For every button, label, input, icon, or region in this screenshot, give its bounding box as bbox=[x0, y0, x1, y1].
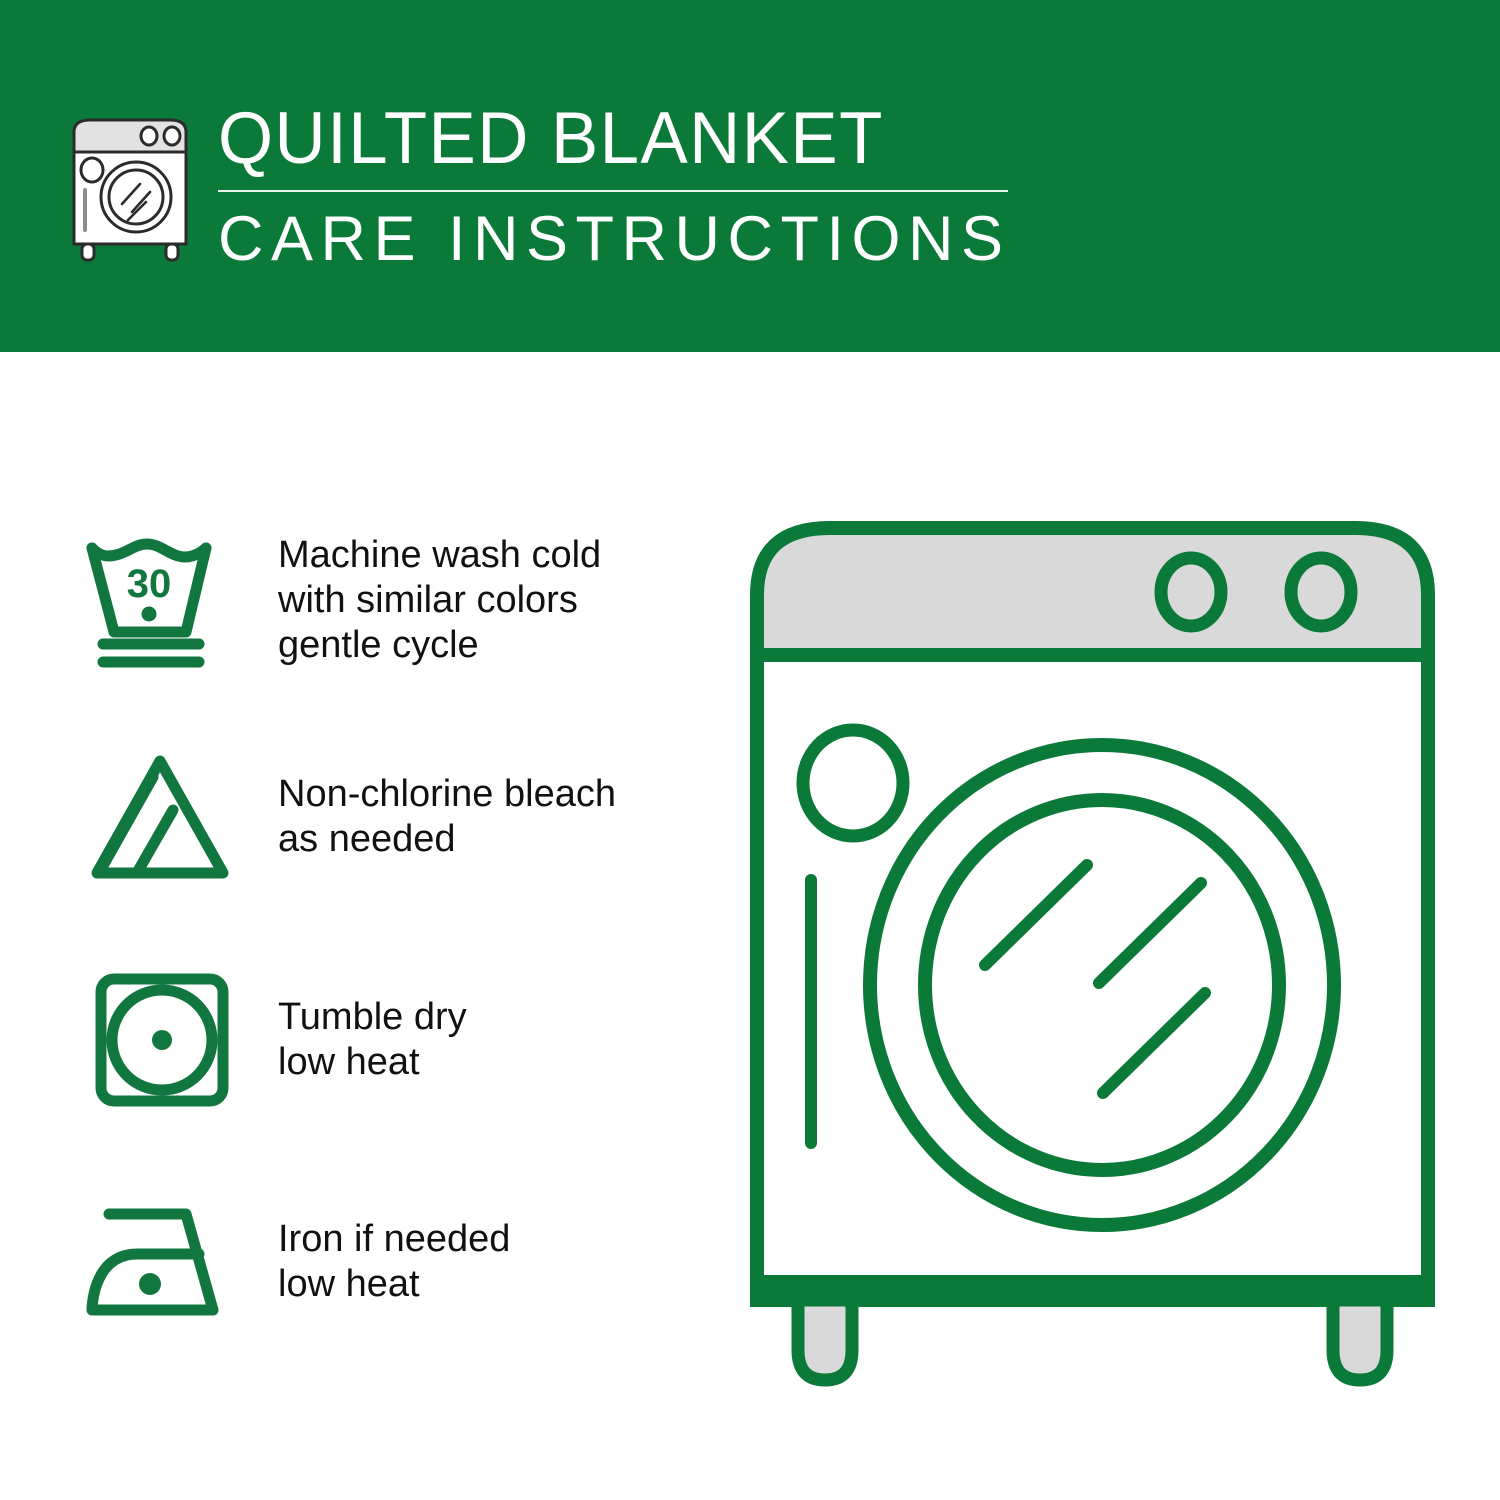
title-divider bbox=[218, 190, 1008, 192]
machine-leg bbox=[798, 1300, 852, 1380]
care-item-label: Non-chlorine bleach as needed bbox=[278, 772, 616, 862]
control-dial bbox=[1291, 558, 1351, 626]
control-dial bbox=[1161, 558, 1221, 626]
care-item-tumble-dry: Tumble dry low heat bbox=[0, 960, 740, 1120]
wash-temperature-label: 30 bbox=[127, 562, 172, 606]
tumble-dry-low-icon bbox=[70, 960, 250, 1120]
care-item-iron: Iron if needed low heat bbox=[0, 1182, 740, 1342]
detergent-knob bbox=[803, 730, 903, 836]
machine-leg bbox=[1333, 1300, 1387, 1380]
care-item-label: Machine wash cold with similar colors ge… bbox=[278, 533, 601, 668]
care-item-machine-wash: 30 Machine wash cold with similar colors… bbox=[0, 520, 740, 680]
care-instructions-list: 30 Machine wash cold with similar colors… bbox=[0, 352, 740, 1500]
care-item-label: Iron if needed low heat bbox=[278, 1217, 510, 1307]
washing-machine-illustration bbox=[735, 495, 1450, 1420]
non-chlorine-bleach-icon bbox=[70, 737, 250, 897]
care-item-bleach: Non-chlorine bleach as needed bbox=[0, 737, 740, 897]
care-item-label: Tumble dry low heat bbox=[278, 995, 467, 1085]
washing-machine-logo-icon bbox=[60, 104, 200, 264]
header-text-block: QUILTED BLANKET CARE INSTRUCTIONS bbox=[218, 98, 1018, 274]
machine-wash-30-gentle-icon: 30 bbox=[70, 520, 250, 680]
page-subtitle: CARE INSTRUCTIONS bbox=[218, 204, 1018, 274]
header-banner: QUILTED BLANKET CARE INSTRUCTIONS bbox=[0, 0, 1500, 352]
page-title: QUILTED BLANKET bbox=[218, 98, 994, 180]
iron-low-heat-icon bbox=[70, 1182, 250, 1342]
